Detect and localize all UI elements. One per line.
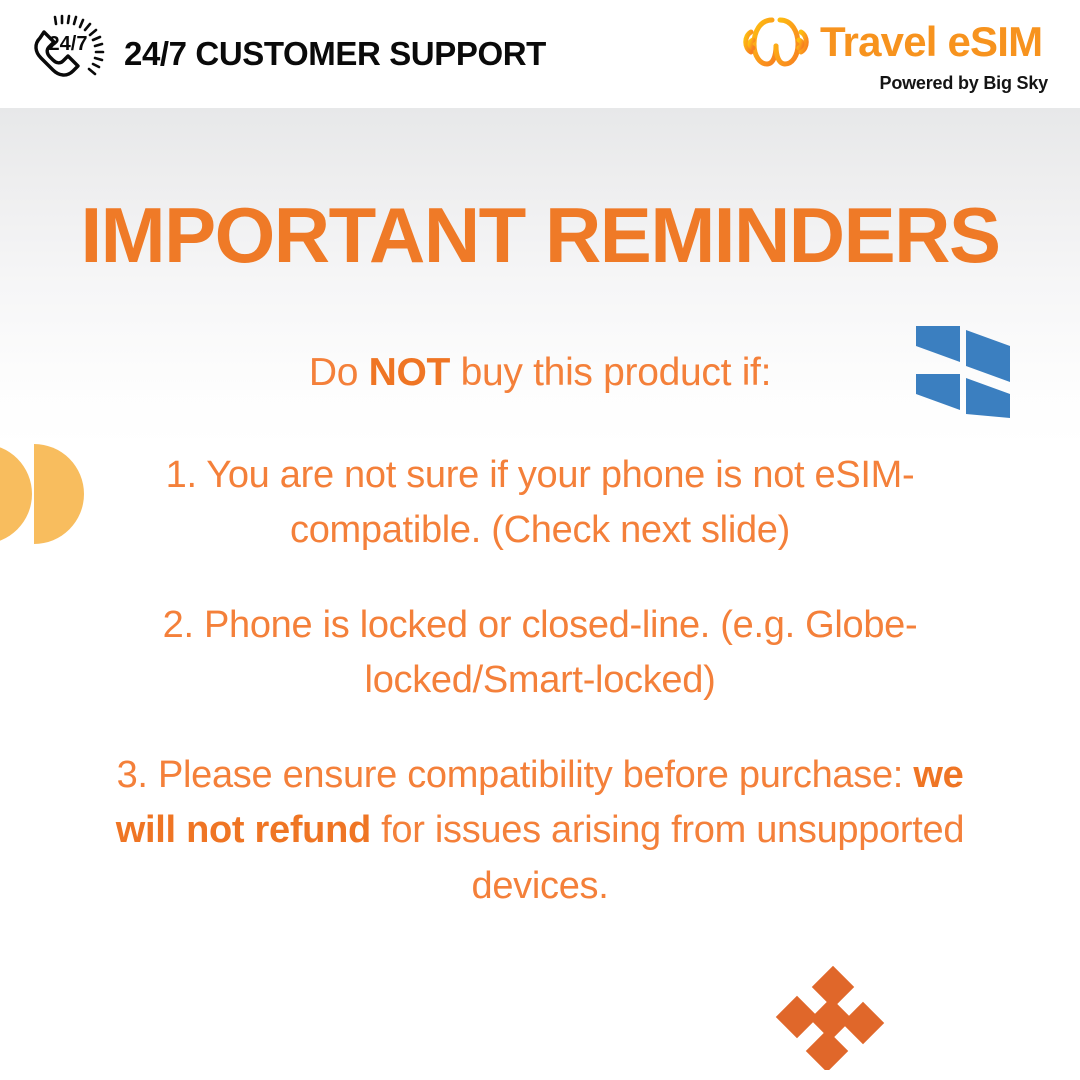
subtitle-emphasis: NOT bbox=[369, 351, 450, 394]
phone-247-icon: 24/7 bbox=[22, 12, 106, 96]
reminders-list: 1. You are not sure if your phone is not… bbox=[0, 448, 1080, 914]
brand-name: Travel eSIM bbox=[820, 21, 1042, 63]
reminder-3-trail: for issues arising from unsupported devi… bbox=[371, 809, 964, 906]
reminder-item-2: 2. Phone is locked or closed-line. (e.g.… bbox=[0, 598, 1080, 708]
brand-tagline: Powered by Big Sky bbox=[740, 73, 1050, 94]
subtitle-lead: Do bbox=[309, 351, 369, 394]
reminder-item-1: 1. You are not sure if your phone is not… bbox=[0, 448, 1080, 558]
reminder-item-3: 3. Please ensure compatibility before pu… bbox=[0, 748, 1080, 913]
subtitle-trail: buy this product if: bbox=[450, 351, 771, 394]
reminder-3-lead: 3. Please ensure compatibility before pu… bbox=[117, 754, 914, 796]
header-bar: 24/7 24/7 CUSTOMER SUPPORT bbox=[0, 0, 1080, 108]
svg-text:24/7: 24/7 bbox=[49, 33, 88, 55]
header-left-group: 24/7 24/7 CUSTOMER SUPPORT bbox=[22, 8, 546, 100]
travel-esim-butterfly-icon bbox=[740, 16, 812, 68]
main-content: IMPORTANT REMINDERS Do NOT buy this prod… bbox=[0, 108, 1080, 1080]
page-title: IMPORTANT REMINDERS bbox=[0, 196, 1080, 274]
slide-canvas: 24/7 24/7 CUSTOMER SUPPORT bbox=[0, 0, 1080, 1080]
brand-logo-row: Travel eSIM bbox=[740, 14, 1050, 70]
subtitle: Do NOT buy this product if: bbox=[0, 350, 1080, 397]
brand-logo[interactable]: Travel eSIM Powered by Big Sky bbox=[740, 14, 1050, 96]
header-title: 24/7 CUSTOMER SUPPORT bbox=[124, 35, 546, 73]
